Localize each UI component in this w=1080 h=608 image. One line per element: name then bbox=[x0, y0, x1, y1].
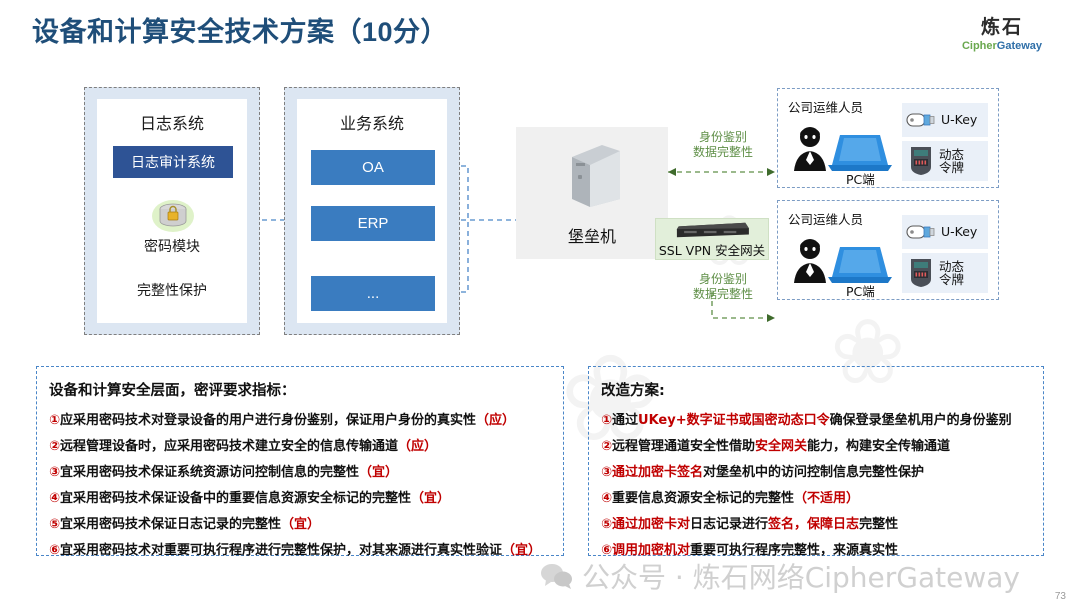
requirements-box: 设备和计算安全层面，密评要求指标： ①应采用密码技术对登录设备的用户进行身份鉴别… bbox=[36, 366, 564, 556]
list-item-text: （应） bbox=[476, 413, 515, 428]
flow-label-top-line1: 身份鉴别 bbox=[699, 130, 747, 144]
dynamic-token-icon bbox=[908, 257, 934, 289]
list-item-number: ④ bbox=[49, 491, 60, 506]
brand-logo-cn: 炼石 bbox=[942, 12, 1062, 39]
log-audit-system-box[interactable]: 日志审计系统 bbox=[113, 146, 233, 178]
log-system-panel: 日志系统 日志审计系统 密码模块 完整性保护 bbox=[84, 87, 260, 335]
list-item-number: ③ bbox=[49, 465, 60, 480]
list-item-text: 远程管理设备时，应采用密码技术建立安全的信息传输通道 bbox=[60, 439, 398, 454]
requirements-list: ①应采用密码技术对登录设备的用户进行身份鉴别，保证用户身份的真实性（应）②远程管… bbox=[49, 409, 563, 558]
list-item-text: （宜） bbox=[281, 517, 320, 532]
dynamic-token-box-top[interactable]: 动态令牌 bbox=[902, 141, 988, 181]
server-tower-icon bbox=[558, 141, 628, 213]
list-item-text: 安全网关 bbox=[755, 439, 807, 454]
list-item-text: 宜采用密码技术保证系统资源访问控制信息的完整性 bbox=[60, 465, 359, 480]
list-item-number: ⑤ bbox=[601, 517, 612, 532]
list-item-number: ① bbox=[601, 413, 612, 428]
list-item-text: 宜采用密码技术对重要可执行程序进行完整性保护，对其来源进行真实性验证 bbox=[60, 543, 502, 558]
page-title: 设备和计算安全技术方案（10分） bbox=[32, 10, 448, 49]
pc-label-bottom: PC端 bbox=[846, 281, 875, 300]
solution-heading: 改造方案: bbox=[601, 379, 1043, 400]
app-box-oa[interactable]: OA bbox=[311, 150, 435, 185]
app-box-other[interactable]: ... bbox=[311, 276, 435, 311]
list-item-text: 完整性 bbox=[859, 517, 898, 532]
list-item: ①通过UKey+数字证书或国密动态口令确保登录堡垒机用户的身份鉴别 bbox=[601, 409, 1043, 428]
list-item: ③宜采用密码技术保证系统资源访问控制信息的完整性（宜） bbox=[49, 461, 563, 480]
crypto-module-label: 密码模块 bbox=[85, 236, 259, 256]
list-item-text: 通过加密卡签名 bbox=[612, 465, 703, 480]
footer-watermark-text: 公众号 · 炼石网络CipherGateway bbox=[582, 556, 1020, 596]
solution-box: 改造方案: ①通过UKey+数字证书或国密动态口令确保登录堡垒机用户的身份鉴别②… bbox=[588, 366, 1044, 556]
user-panel-top-title: 公司运维人员 bbox=[788, 97, 863, 116]
requirements-heading: 设备和计算安全层面，密评要求指标： bbox=[49, 379, 563, 400]
list-item: ⑤宜采用密码技术保证日志记录的完整性（宜） bbox=[49, 513, 563, 532]
bastion-host-label: 堡垒机 bbox=[516, 223, 668, 247]
ukey-label-bottom: U-Key bbox=[941, 225, 977, 238]
list-item-text: UKey+数字证书或国密动态口令 bbox=[638, 413, 830, 428]
list-item: ⑤通过加密卡对日志记录进行签名，保障日志完整性 bbox=[601, 513, 1043, 532]
list-item-number: ⑤ bbox=[49, 517, 60, 532]
operator-pc-icon bbox=[784, 233, 894, 289]
slide-canvas: ❀ ❀ ❀ 设备和计算安全技术方案（10分） 炼石 CipherGateway bbox=[0, 0, 1080, 608]
crypto-module-icon bbox=[150, 198, 196, 234]
list-item-text: 重要信息资源安全标记的完整性 bbox=[612, 491, 794, 506]
usb-key-icon bbox=[906, 223, 936, 241]
bastion-host-panel[interactable]: 堡垒机 bbox=[516, 127, 668, 259]
usb-key-icon bbox=[906, 111, 936, 129]
list-item-text: 通过 bbox=[612, 413, 638, 428]
brand-logo-en-cipher: Cipher bbox=[962, 40, 997, 52]
flow-label-top-line2: 数据完整性 bbox=[693, 145, 753, 159]
list-item-text: 通过加密卡对 bbox=[612, 517, 690, 532]
list-item-text: 宜采用密码技术保证日志记录的完整性 bbox=[60, 517, 281, 532]
list-item-text: 应采用密码技术对登录设备的用户进行身份鉴别，保证用户身份的真实性 bbox=[60, 413, 476, 428]
list-item-number: ③ bbox=[601, 465, 612, 480]
ssl-vpn-gateway-label: SSL VPN 安全网关 bbox=[659, 240, 765, 259]
dynamic-token-label-bottom: 动态令牌 bbox=[939, 260, 964, 286]
brand-logo: 炼石 CipherGateway bbox=[942, 12, 1062, 52]
business-system-title: 业务系统 bbox=[285, 110, 459, 134]
list-item-number: ② bbox=[49, 439, 60, 454]
dynamic-token-icon bbox=[908, 145, 934, 177]
list-item-number: ② bbox=[601, 439, 612, 454]
pc-label-top: PC端 bbox=[846, 169, 875, 188]
solution-list: ①通过UKey+数字证书或国密动态口令确保登录堡垒机用户的身份鉴别②远程管理通道… bbox=[601, 409, 1043, 558]
dynamic-token-box-bottom[interactable]: 动态令牌 bbox=[902, 253, 988, 293]
list-item-text: 对堡垒机中的访问控制信息完整性保护 bbox=[703, 465, 924, 480]
brand-logo-en-gateway: Gateway bbox=[997, 40, 1042, 52]
list-item-text: （宜） bbox=[411, 491, 450, 506]
list-item-text: 能力，构建安全传输通道 bbox=[807, 439, 950, 454]
integrity-protection-label: 完整性保护 bbox=[85, 280, 259, 300]
flow-label-top: 身份鉴别 数据完整性 bbox=[668, 130, 778, 160]
list-item-text: 宜采用密码技术保证设备中的重要信息资源安全标记的完整性 bbox=[60, 491, 411, 506]
list-item: ②远程管理通道安全性借助安全网关能力，构建安全传输通道 bbox=[601, 435, 1043, 454]
ssl-vpn-gateway[interactable]: SSL VPN 安全网关 bbox=[655, 218, 769, 260]
list-item-text: （应） bbox=[398, 439, 437, 454]
wechat-icon bbox=[540, 562, 574, 590]
list-item: ④宜采用密码技术保证设备中的重要信息资源安全标记的完整性（宜） bbox=[49, 487, 563, 506]
user-panel-bottom: 公司运维人员 PC端 U-Key bbox=[777, 200, 999, 300]
flow-label-bottom: 身份鉴别 数据完整性 bbox=[668, 272, 778, 302]
business-system-panel: 业务系统 OA ERP ... bbox=[284, 87, 460, 335]
list-item-text: （宜） bbox=[359, 465, 398, 480]
app-box-erp[interactable]: ERP bbox=[311, 206, 435, 241]
architecture-diagram: 日志系统 日志审计系统 密码模块 完整性保护 业务系统 OA ERP ... bbox=[0, 70, 1080, 350]
list-item-number: ④ bbox=[601, 491, 612, 506]
ukey-box-bottom[interactable]: U-Key bbox=[902, 215, 988, 249]
list-item-text: 签名，保障日志 bbox=[768, 517, 859, 532]
log-system-title: 日志系统 bbox=[85, 110, 259, 134]
list-item-text: （不适用） bbox=[794, 491, 859, 506]
dynamic-token-label-top: 动态令牌 bbox=[939, 148, 964, 174]
user-panel-top: 公司运维人员 PC端 bbox=[777, 88, 999, 188]
list-item: ⑥宜采用密码技术对重要可执行程序进行完整性保护，对其来源进行真实性验证（宜） bbox=[49, 539, 563, 558]
flow-label-bottom-line2: 数据完整性 bbox=[693, 287, 753, 301]
operator-pc-icon bbox=[784, 121, 894, 177]
brand-logo-en: CipherGateway bbox=[942, 40, 1062, 52]
list-item: ①应采用密码技术对登录设备的用户进行身份鉴别，保证用户身份的真实性（应） bbox=[49, 409, 563, 428]
list-item: ④重要信息资源安全标记的完整性（不适用） bbox=[601, 487, 1043, 506]
footer-watermark: 公众号 · 炼石网络CipherGateway bbox=[540, 556, 1020, 596]
flow-label-bottom-line1: 身份鉴别 bbox=[699, 272, 747, 286]
rack-appliance-icon bbox=[669, 221, 755, 239]
list-item-number: ① bbox=[49, 413, 60, 428]
user-panel-bottom-title: 公司运维人员 bbox=[788, 209, 863, 228]
ukey-box-top[interactable]: U-Key bbox=[902, 103, 988, 137]
ukey-label-top: U-Key bbox=[941, 113, 977, 126]
list-item-number: ⑥ bbox=[49, 543, 60, 558]
list-item-text: （宜） bbox=[502, 543, 541, 558]
list-item-text: 日志记录进行 bbox=[690, 517, 768, 532]
list-item: ②远程管理设备时，应采用密码技术建立安全的信息传输通道（应） bbox=[49, 435, 563, 454]
list-item-text: 远程管理通道安全性借助 bbox=[612, 439, 755, 454]
list-item-text: 确保登录堡垒机用户的身份鉴别 bbox=[830, 413, 1012, 428]
list-item: ③通过加密卡签名对堡垒机中的访问控制信息完整性保护 bbox=[601, 461, 1043, 480]
page-number: 73 bbox=[1055, 591, 1066, 602]
